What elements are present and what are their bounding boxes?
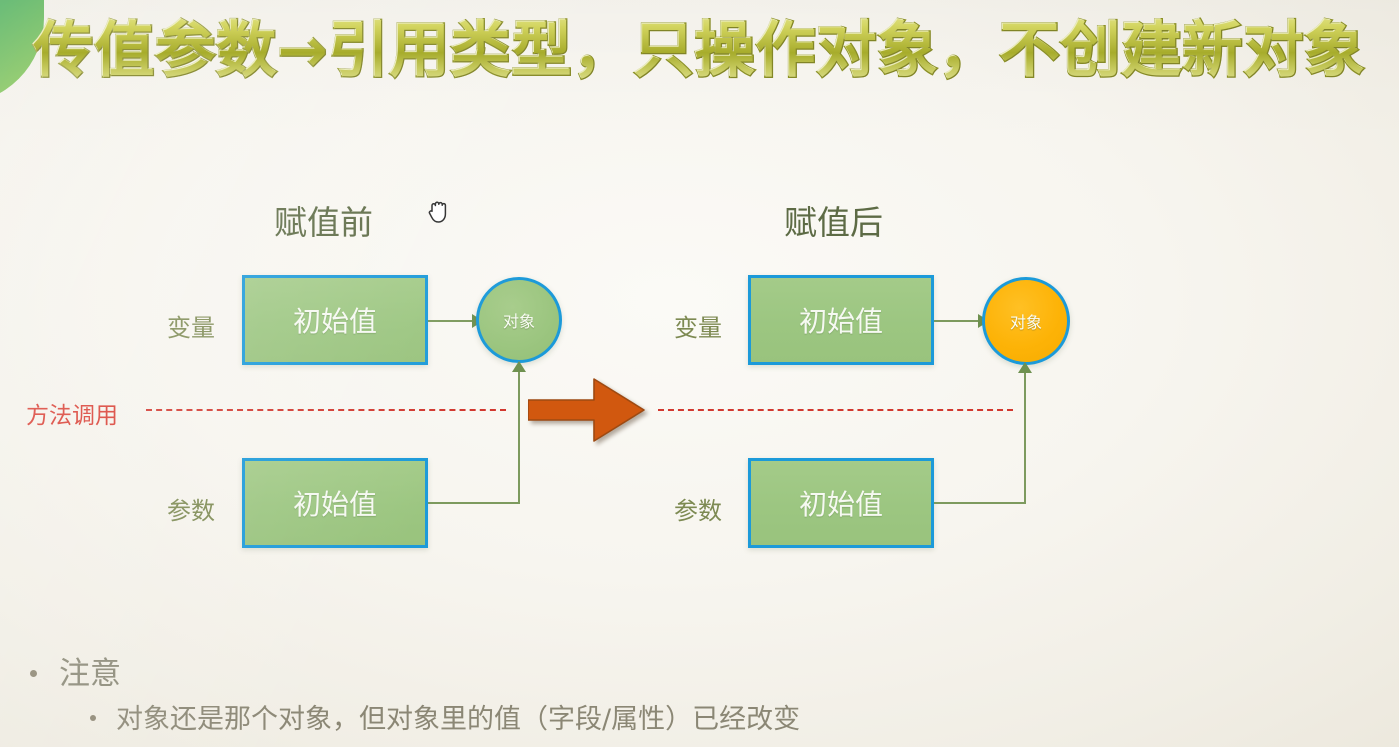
bullet-dot-small-icon	[90, 715, 96, 721]
arrowhead-parameter-to-object-after	[1018, 362, 1032, 373]
grab-hand-cursor-icon	[428, 198, 450, 224]
arrowhead-parameter-to-object-before	[512, 361, 526, 372]
bullet-dot-icon	[30, 670, 37, 677]
method-call-divider-left	[146, 409, 506, 411]
slide-canvas: 传值参数→引用类型，只操作对象，不创建新对象 传值参数→引用类型，只操作对象，不…	[0, 0, 1399, 747]
connector-variable-to-object-before	[428, 320, 476, 322]
slide-title: 传值参数→引用类型，只操作对象，不创建新对象	[0, 8, 1399, 94]
variable-box-before: 初始值	[242, 275, 428, 365]
label-variable-before: 变量	[167, 308, 215, 343]
parameter-box-before: 初始值	[242, 458, 428, 548]
object-circle-before: 对象	[476, 277, 562, 363]
note-level1-text: 注意	[59, 648, 121, 693]
label-parameter-after: 参数	[674, 491, 722, 526]
parameter-box-after: 初始值	[748, 458, 934, 548]
heading-before-assignment: 赋值前	[274, 196, 373, 244]
connector-parameter-v-before	[518, 372, 520, 504]
object-circle-after: 对象	[982, 277, 1070, 365]
label-parameter-before: 参数	[167, 491, 215, 526]
method-call-divider-right	[658, 409, 1013, 411]
connector-variable-to-object-after	[934, 320, 982, 322]
connector-parameter-v-after	[1024, 373, 1026, 504]
label-variable-after: 变量	[674, 308, 722, 343]
variable-box-after: 初始值	[748, 275, 934, 365]
label-method-call-left: 方法调用	[26, 396, 118, 430]
transition-arrow-icon	[528, 375, 646, 445]
heading-after-assignment: 赋值后	[784, 196, 883, 244]
note-level2-text: 对象还是那个对象，但对象里的值（字段/属性）已经改变	[116, 697, 800, 736]
note-level2: 对象还是那个对象，但对象里的值（字段/属性）已经改变	[90, 697, 800, 736]
connector-parameter-h-before	[428, 502, 518, 504]
note-level1: 注意	[30, 648, 121, 693]
connector-parameter-h-after	[934, 502, 1024, 504]
